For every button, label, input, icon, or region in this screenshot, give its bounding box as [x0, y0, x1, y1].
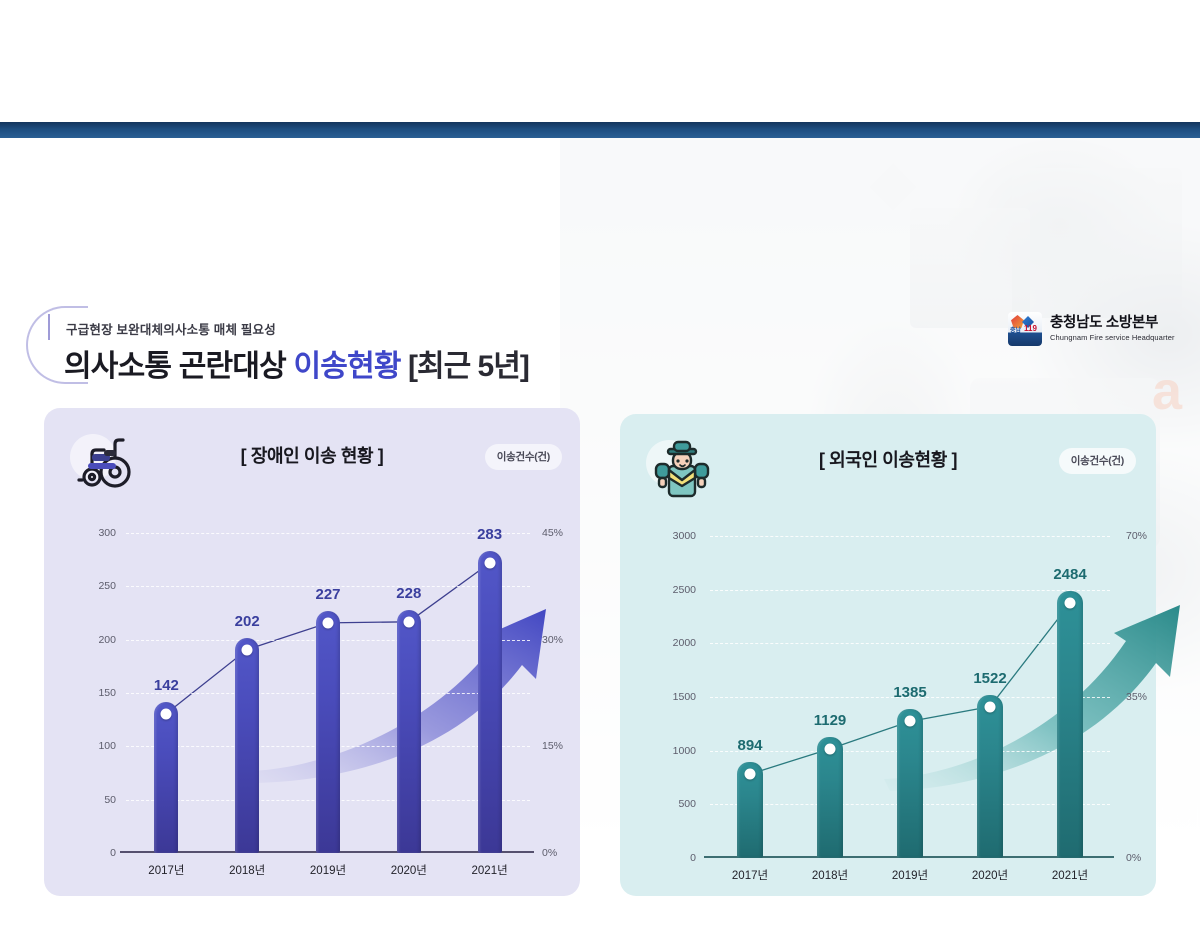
slide-body: a Chungnam ice 구급현장 보완대체의사소통 매체 필요성 의사소통…: [0, 138, 1200, 925]
top-blue-rule: [0, 122, 1200, 138]
y-axis-tick-label: 1500: [673, 691, 696, 703]
bar: [397, 610, 421, 853]
x-axis-tick-label: 2020년: [972, 867, 1008, 883]
data-value-label: 1522: [973, 670, 1006, 687]
bar: [316, 611, 340, 853]
data-value-label: 283: [477, 526, 502, 543]
title-part-accent: 이송현황: [293, 350, 400, 383]
y-axis-tick-label: 50: [104, 794, 116, 806]
emblem-119-label: 119: [1024, 324, 1037, 333]
y2-axis-tick-label: 15%: [542, 740, 563, 752]
y-axis-tick-label: 0: [690, 852, 696, 864]
data-point-marker: [323, 617, 334, 628]
gridline: [126, 533, 530, 534]
x-axis-tick-label: 2019년: [310, 862, 346, 878]
y2-axis-tick-label: 0%: [542, 847, 557, 859]
y2-axis-tick-label: 35%: [1126, 691, 1147, 703]
y-axis-tick-label: 150: [98, 687, 116, 699]
y-axis-tick-label: 100: [98, 740, 116, 752]
x-axis-tick-label: 2017년: [148, 862, 184, 878]
chart-card-disabled: [ 장애인 이송 현황 ] 이송건수(건) 050100150200250300: [44, 408, 580, 896]
title-tick-mark: [48, 314, 50, 340]
y-axis-tick-label: 3000: [673, 530, 696, 542]
data-value-label: 1385: [893, 684, 926, 701]
x-axis-tick-label: 2021년: [1052, 867, 1088, 883]
x-axis-tick-label: 2021년: [472, 862, 508, 878]
data-point-marker: [985, 701, 996, 712]
data-value-label: 894: [737, 737, 762, 754]
data-value-label: 142: [154, 677, 179, 694]
title-part-suffix: [최근 5년]: [401, 350, 529, 383]
data-value-label: 227: [315, 586, 340, 603]
y-axis-tick-label: 500: [678, 798, 696, 810]
data-point-marker: [745, 769, 756, 780]
data-point-marker: [1065, 598, 1076, 609]
y-axis-tick-label: 300: [98, 527, 116, 539]
org-name-kr: 충청남도 소방본부: [1050, 316, 1175, 332]
bar: [1057, 591, 1083, 858]
data-value-label: 202: [235, 613, 260, 630]
chart-card-foreigner: [ 외국인 이송현황 ] 이송건수(건) 0500100015002000250: [620, 414, 1156, 896]
y2-axis-tick-label: 0%: [1126, 852, 1141, 864]
y2-axis-tick-label: 70%: [1126, 530, 1147, 542]
bar: [977, 695, 1003, 858]
background-truck-shape: [910, 208, 1030, 328]
watermark-letter: a: [1152, 360, 1182, 422]
y-axis-tick-label: 0: [110, 847, 116, 859]
data-point-marker: [403, 616, 414, 627]
org-logo: 충남 119 충청남도 소방본부 Chungnam Fire service H…: [1008, 312, 1175, 346]
data-point-marker: [484, 558, 495, 569]
x-axis-tick-label: 2019년: [892, 867, 928, 883]
page-title: 의사소통 곤란대상 이송현황 [최근 5년]: [64, 341, 529, 385]
y2-axis-tick-label: 30%: [542, 634, 563, 646]
bar: [817, 737, 843, 858]
emblem-region-label: 충남: [1010, 325, 1021, 334]
unit-badge-disabled: 이송건수(건): [485, 444, 562, 470]
bar: [154, 702, 178, 853]
org-name-en: Chungnam Fire service Headquarter: [1050, 334, 1175, 342]
data-value-label: 228: [396, 585, 421, 602]
plot-area-disabled: 0501001502002503000%15%30%45%1422017년202…: [126, 533, 530, 853]
x-axis-tick-label: 2018년: [229, 862, 265, 878]
title-part-main: 의사소통 곤란대상: [64, 350, 293, 383]
bar: [478, 551, 502, 853]
data-value-label: 2484: [1053, 566, 1086, 583]
background-diamond-shape: [869, 163, 917, 211]
plot-area-foreigner: 0500100015002000250030000%35%70%8942017년…: [710, 536, 1110, 858]
x-axis-tick-label: 2018년: [812, 867, 848, 883]
data-value-label: 1129: [814, 712, 847, 729]
gridline: [710, 643, 1110, 644]
data-point-marker: [242, 644, 253, 655]
slide-page: a Chungnam ice 구급현장 보완대체의사소통 매체 필요성 의사소통…: [0, 0, 1200, 925]
x-axis-tick-label: 2017년: [732, 867, 768, 883]
top-white-margin: [0, 0, 1200, 122]
unit-badge-foreigner: 이송건수(건): [1059, 448, 1136, 474]
fire-service-emblem-icon: 충남 119: [1008, 312, 1042, 346]
y-axis-tick-label: 200: [98, 634, 116, 646]
x-axis-tick-label: 2020년: [391, 862, 427, 878]
watermark-service: ice: [1160, 838, 1200, 900]
y-axis-tick-label: 250: [98, 580, 116, 592]
y-axis-tick-label: 2500: [673, 584, 696, 596]
y-axis-tick-label: 1000: [673, 745, 696, 757]
background-truck-shape: [1012, 168, 1182, 318]
bar: [235, 638, 259, 853]
gridline: [710, 590, 1110, 591]
data-point-marker: [905, 716, 916, 727]
data-point-marker: [825, 743, 836, 754]
y-axis-tick-label: 2000: [673, 637, 696, 649]
data-point-marker: [161, 708, 172, 719]
eyebrow-text: 구급현장 보완대체의사소통 매체 필요성: [66, 319, 276, 338]
y2-axis-tick-label: 45%: [542, 527, 563, 539]
bar: [897, 709, 923, 858]
gridline: [710, 536, 1110, 537]
